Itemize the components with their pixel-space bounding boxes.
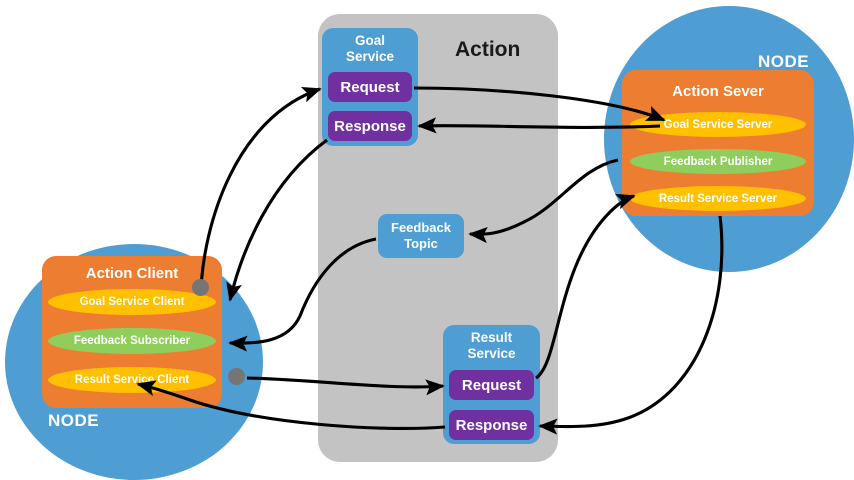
pill-result-service-server[interactable]: Result Service Server xyxy=(630,186,806,211)
goal-service-response-label: Response xyxy=(334,118,406,135)
result-service-response-label: Response xyxy=(456,417,528,434)
pill-feedback-publisher[interactable]: Feedback Publisher xyxy=(630,149,806,174)
arrow-goal-client-to-request xyxy=(201,89,320,289)
goal-service-title-line2: Service xyxy=(322,49,418,65)
goal-service-title-line1: Goal xyxy=(322,33,418,49)
action-title: Action xyxy=(455,38,520,62)
feedback-topic-line1: Feedback xyxy=(391,220,451,236)
feedback-topic-box[interactable]: Feedback Topic xyxy=(378,214,464,258)
result-service-request-box[interactable]: Request xyxy=(449,370,534,400)
action-diagram-canvas: Action Action Client Goal Service Client… xyxy=(0,0,854,480)
connector-dot-goal-client xyxy=(192,279,209,296)
pill-result-service-client[interactable]: Result Service Client xyxy=(48,367,216,393)
goal-service-request-box[interactable]: Request xyxy=(328,72,412,102)
action-server-title: Action Sever xyxy=(622,83,814,100)
result-service-request-label: Request xyxy=(462,377,521,394)
client-node-label: NODE xyxy=(48,411,99,431)
pill-result-service-client-label: Result Service Client xyxy=(75,374,189,386)
pill-feedback-subscriber[interactable]: Feedback Subscriber xyxy=(48,328,216,354)
pill-feedback-subscriber-label: Feedback Subscriber xyxy=(74,335,190,347)
pill-goal-service-client[interactable]: Goal Service Client xyxy=(48,289,216,315)
pill-goal-service-server-label: Goal Service Server xyxy=(664,119,773,131)
server-node-label: NODE xyxy=(758,52,809,72)
feedback-topic-line2: Topic xyxy=(404,236,438,252)
goal-service-request-label: Request xyxy=(340,79,399,96)
pill-goal-service-server[interactable]: Goal Service Server xyxy=(630,112,806,137)
arrow-goal-response-to-client xyxy=(230,140,327,300)
pill-result-service-server-label: Result Service Server xyxy=(659,193,777,205)
result-service-title: Result Service xyxy=(443,330,540,362)
goal-service-title: Goal Service xyxy=(322,33,418,65)
pill-feedback-publisher-label: Feedback Publisher xyxy=(664,156,773,168)
pill-goal-service-client-label: Goal Service Client xyxy=(80,296,185,308)
connector-dot-result-client xyxy=(228,368,245,385)
result-service-response-box[interactable]: Response xyxy=(449,410,534,440)
result-service-title-line1: Result xyxy=(443,330,540,346)
result-service-title-line2: Service xyxy=(443,346,540,362)
goal-service-response-box[interactable]: Response xyxy=(328,111,412,141)
